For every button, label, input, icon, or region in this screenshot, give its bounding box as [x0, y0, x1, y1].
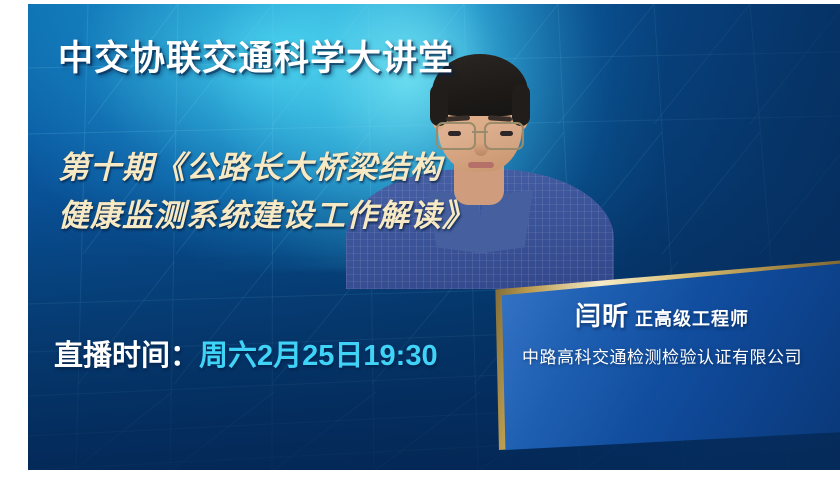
speaker-name-row: 闫昕正高级工程师	[486, 296, 838, 333]
live-time-row: 直播时间：周六2月25日19:30	[54, 332, 438, 374]
episode-subtitle-line2: 健康监测系统建设工作解读》	[58, 192, 474, 240]
speaker-info-panel: 闫昕正高级工程师 中路高科交通检测检验认证有限公司	[486, 260, 840, 450]
live-event-poster: 中交协联交通科学大讲堂 第十期《公路长大桥梁结构 健康监测系统建设工作解读》 直…	[28, 4, 840, 470]
episode-subtitle: 第十期《公路长大桥梁结构 健康监测系统建设工作解读》	[58, 144, 474, 240]
live-time-label: 直播时间：	[54, 340, 199, 372]
speaker-name: 闫昕	[575, 301, 629, 331]
episode-subtitle-line1: 第十期《公路长大桥梁结构	[58, 144, 474, 192]
page-title: 中交协联交通科学大讲堂	[58, 30, 454, 81]
speaker-role: 正高级工程师	[635, 309, 749, 329]
speaker-company: 中路高科交通检测检验认证有限公司	[486, 343, 838, 368]
live-time-value: 周六2月25日19:30	[199, 340, 438, 372]
speaker-text-block: 闫昕正高级工程师 中路高科交通检测检验认证有限公司	[486, 296, 838, 368]
